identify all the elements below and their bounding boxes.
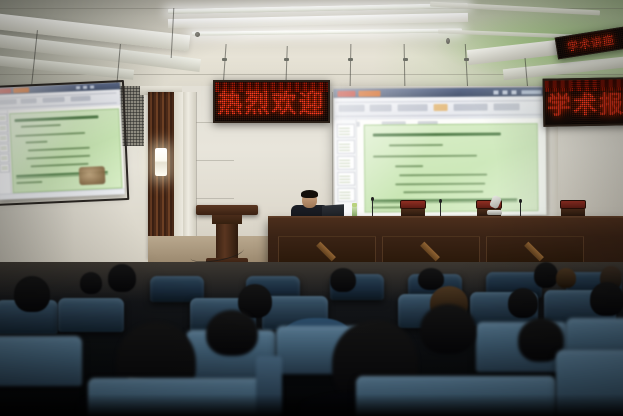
pilaster [183, 92, 196, 260]
wall-seam [196, 92, 197, 242]
chair-back [560, 200, 586, 209]
photo-bottom-shadow [0, 394, 623, 416]
column-side-panel [174, 92, 183, 260]
bottle-cap [352, 203, 357, 207]
ceiling-speaker-icon [195, 32, 200, 37]
led-corner-text: 学术讲座 [566, 31, 616, 54]
wall-sconce-light [155, 148, 167, 176]
audience-head [14, 276, 50, 312]
stage-chair [560, 200, 586, 216]
led-lecture-banner: 学术报 [543, 77, 623, 126]
microscope-base [487, 210, 502, 215]
lecture-hall-photo: 热烈欢迎 学术报 学术讲座 [0, 0, 623, 416]
audience-seat [0, 336, 82, 386]
podium-top [196, 205, 258, 215]
microscope-arm [489, 195, 502, 210]
audience-head [534, 262, 558, 288]
wooden-column [148, 92, 174, 260]
led-welcome-text: 热烈欢迎 [217, 84, 325, 120]
audience-head [556, 268, 576, 288]
audience-seat [58, 298, 124, 332]
audience-head [590, 282, 623, 316]
screen-glare [333, 87, 546, 217]
led-lecture-text: 学术报 [547, 84, 623, 120]
podium-neck [212, 215, 242, 224]
main-projection-screen [333, 87, 546, 217]
audience-head [420, 304, 476, 354]
chair-frame [401, 209, 425, 216]
cable-mount [403, 58, 408, 61]
microphone-head-icon [371, 197, 374, 201]
audience-head [80, 272, 102, 294]
chair-frame [561, 209, 585, 216]
microphone-head-icon [519, 199, 522, 203]
chair-back [400, 200, 426, 209]
audience-head [330, 268, 356, 292]
audience-head [108, 264, 136, 292]
left-screen-frame [0, 80, 129, 206]
microscope [485, 196, 503, 218]
microphone-head-icon [439, 199, 442, 203]
speaker-hair [301, 190, 318, 198]
led-welcome-banner: 热烈欢迎 [213, 80, 330, 123]
cable-mount [222, 58, 227, 61]
audience-head [508, 288, 538, 318]
cable-mount [464, 58, 469, 61]
stage-chair [400, 200, 426, 216]
ceiling-speaker-icon [446, 38, 450, 44]
cable-mount [284, 58, 289, 61]
audience-head [206, 310, 258, 356]
cable-mount [348, 58, 353, 61]
